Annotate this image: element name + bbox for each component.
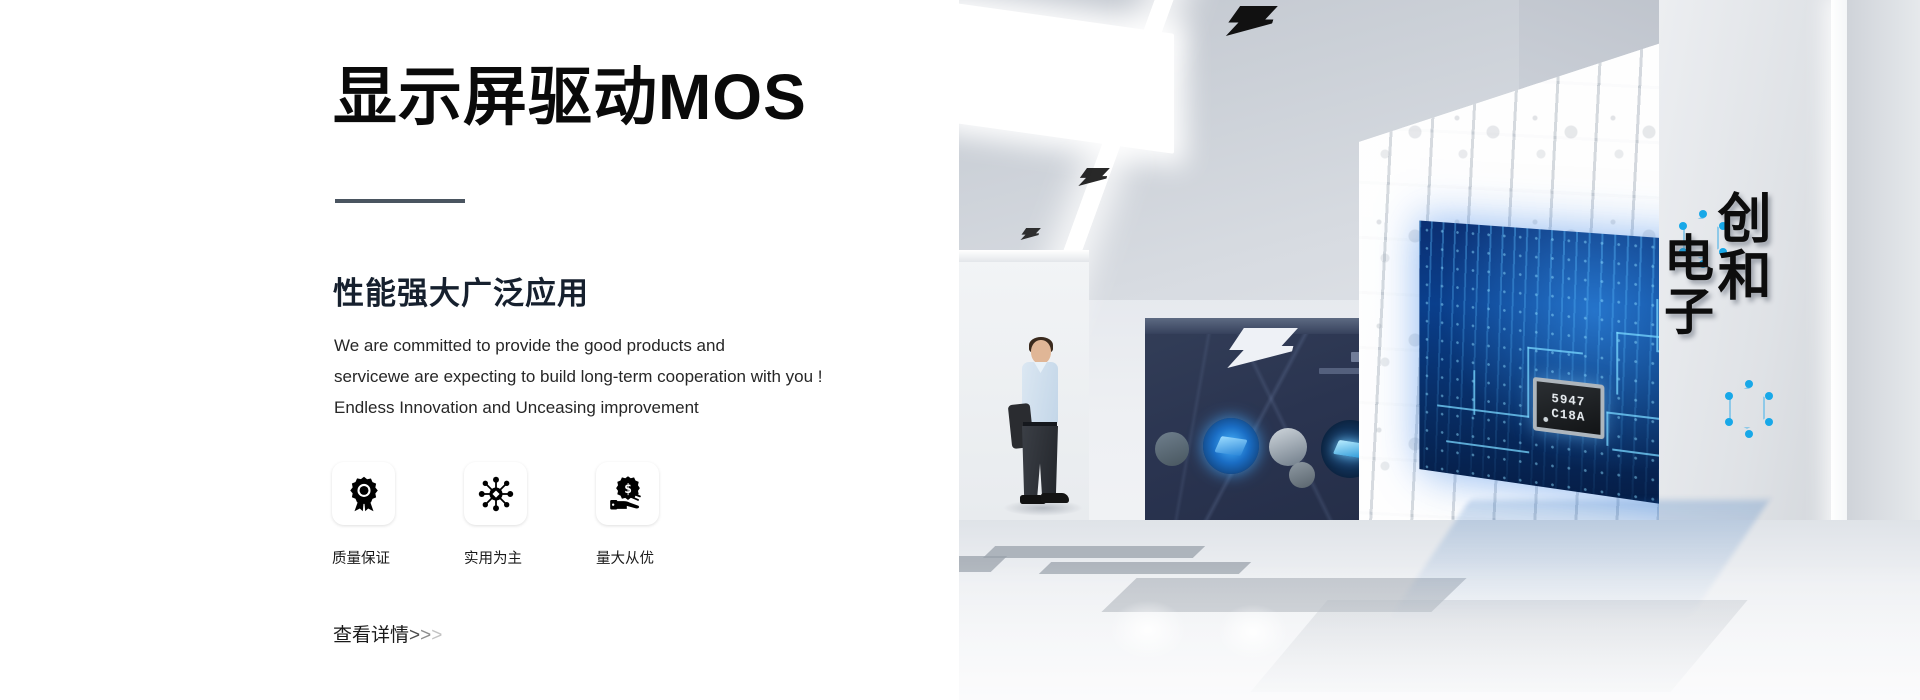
visitor-figure-man	[1011, 340, 1069, 510]
feature-label: 量大从优	[596, 547, 671, 568]
trousers	[1022, 426, 1058, 498]
award-badge-icon	[345, 475, 383, 513]
feature-item-quality[interactable]: 质量保证	[332, 462, 407, 568]
feature-label: 实用为主	[464, 547, 539, 568]
paragraph-line-1: We are committed to provide the good pro…	[334, 330, 823, 361]
head	[1031, 340, 1051, 364]
exhibit-medallion	[1269, 428, 1307, 466]
money-in-hand-icon: $	[609, 475, 647, 513]
chip-pin1-dot	[1543, 417, 1548, 423]
chevron-icon-2: >	[420, 625, 431, 646]
feature-icon-tile	[464, 462, 527, 525]
exhibit-medallion-chip	[1203, 418, 1259, 474]
title-divider	[335, 199, 465, 203]
floor-inlay-band	[983, 546, 1205, 558]
page-title: 显示屏驱动MOS	[333, 62, 807, 132]
wall-sign-text-left: 电子	[1659, 232, 1710, 338]
feature-icon-tile	[332, 462, 395, 525]
shoe	[1041, 493, 1069, 503]
floor-gloss	[959, 560, 1920, 700]
floor-light-reflection	[1217, 604, 1289, 660]
floor-light-reflection	[1109, 600, 1187, 660]
view-details-link[interactable]: 查看详情>>>	[333, 620, 442, 647]
chevron-icon-1: >	[409, 625, 420, 646]
hexagon-molecule-icon	[1721, 380, 1773, 438]
network-hub-icon	[477, 475, 515, 513]
hexagon-shape	[1729, 387, 1765, 429]
paragraph-line-2: servicewe are expecting to build long-te…	[334, 361, 823, 392]
feature-icon-tile: $	[596, 462, 659, 525]
subheading: 性能强大广泛应用	[333, 268, 589, 313]
exhibit-medallion	[1289, 462, 1315, 488]
chevron-icon-3: >	[431, 625, 442, 646]
svg-text:$: $	[624, 481, 632, 496]
feature-label: 质量保证	[332, 547, 407, 568]
showroom-photo: 5947 C18A 创和 电子	[959, 0, 1920, 700]
chip-package: 5947 C18A	[1533, 377, 1604, 440]
banner-text-panel: 显示屏驱动MOS 性能强大广泛应用 We are committed to pr…	[0, 0, 960, 700]
exhibit-medallion	[1155, 432, 1189, 466]
chip-marking-line-2: C18A	[1551, 406, 1585, 425]
product-banner: 显示屏驱动MOS 性能强大广泛应用 We are committed to pr…	[0, 0, 1920, 700]
feature-item-practical[interactable]: 实用为主	[464, 462, 539, 568]
description-paragraph: We are committed to provide the good pro…	[334, 330, 823, 423]
feature-list: 质量保证	[332, 462, 671, 568]
wall-sign-text-right: 创和	[1711, 190, 1766, 304]
feature-item-bulk-discount[interactable]: $ 量大从优	[596, 462, 671, 568]
left-wall-edge	[959, 250, 1089, 262]
paragraph-line-3: Endless Innovation and Unceasing improve…	[334, 392, 823, 423]
view-details-label: 查看详情	[333, 625, 409, 646]
